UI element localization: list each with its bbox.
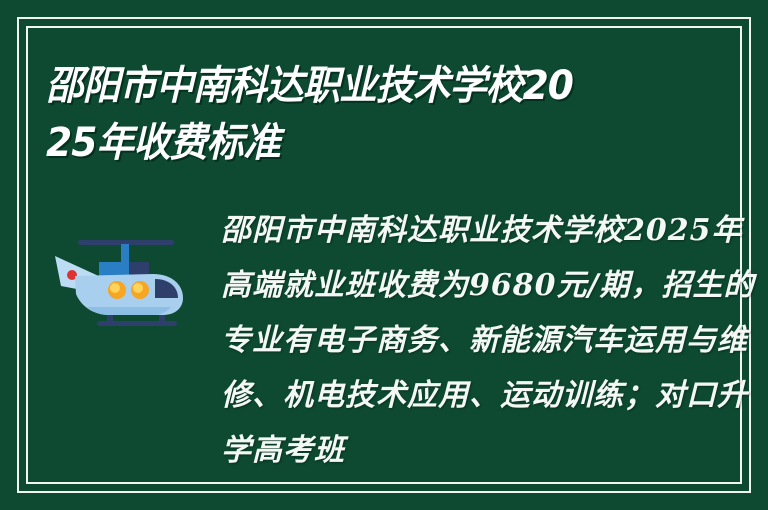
- page-title: 邵阳市中南科达职业技术学校20 25年收费标准: [46, 58, 646, 172]
- poster-canvas: 邵阳市中南科达职业技术学校20 25年收费标准: [0, 0, 768, 510]
- body-copy-container: 邵阳市中南科达职业技术学校2025年高端就业班收费为9680元/期，招生的专业有…: [221, 203, 761, 493]
- helicopter-porthole-2-highlight: [133, 283, 143, 293]
- page-title-line-2: 25年收费标准: [46, 115, 610, 172]
- helicopter-skid-rail: [97, 321, 177, 326]
- page-title-line-1: 邵阳市中南科达职业技术学校20: [46, 58, 610, 115]
- helicopter-porthole-1-highlight: [110, 283, 120, 293]
- helicopter-icon: [45, 222, 205, 332]
- body-copy: 邵阳市中南科达职业技术学校2025年高端就业班收费为9680元/期，招生的专业有…: [221, 203, 761, 478]
- helicopter-rotor-mast: [121, 244, 129, 265]
